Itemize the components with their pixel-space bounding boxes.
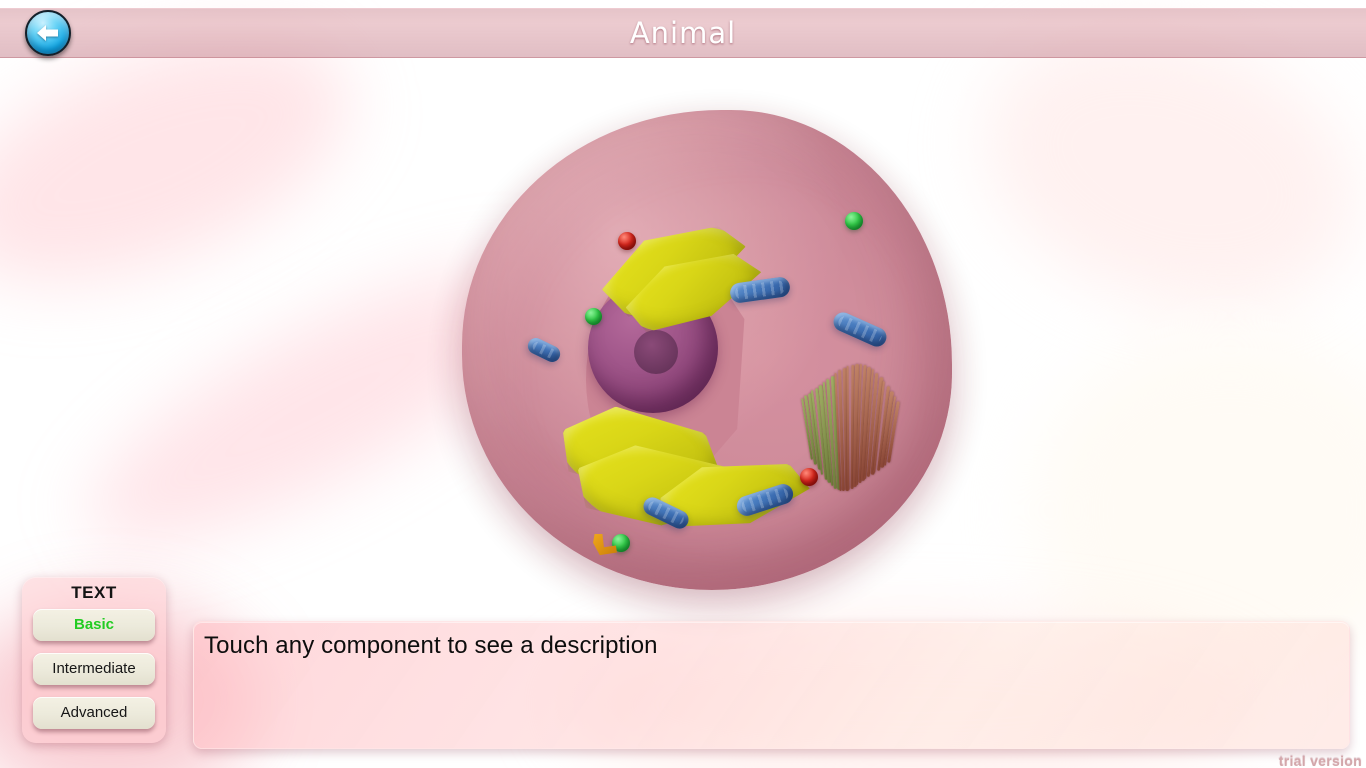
text-panel-title: TEXT bbox=[22, 583, 166, 603]
arrow-left-icon bbox=[35, 22, 61, 44]
cell-3d-viewport[interactable] bbox=[0, 58, 1366, 648]
text-level-panel: TEXT Basic Intermediate Advanced bbox=[22, 577, 166, 743]
lysosome[interactable] bbox=[845, 212, 863, 230]
peroxisome[interactable] bbox=[618, 232, 636, 250]
peroxisome[interactable] bbox=[800, 468, 818, 486]
title-bar: Animal bbox=[0, 8, 1366, 58]
page-title: Animal bbox=[630, 16, 736, 50]
description-text: Touch any component to see a description bbox=[204, 632, 1349, 660]
lysosome[interactable] bbox=[585, 308, 602, 325]
app-root: Animal TEXT Basic Intermediate Advanced … bbox=[0, 0, 1366, 768]
description-panel[interactable]: Touch any component to see a description bbox=[193, 621, 1350, 749]
text-level-intermediate[interactable]: Intermediate bbox=[33, 653, 155, 685]
text-level-advanced[interactable]: Advanced bbox=[33, 697, 155, 729]
er-cisterna bbox=[847, 366, 850, 490]
rough-endoplasmic-reticulum[interactable] bbox=[806, 364, 902, 494]
nucleolus[interactable] bbox=[634, 330, 678, 374]
text-level-basic[interactable]: Basic bbox=[33, 609, 155, 641]
trial-watermark: trial version bbox=[1279, 753, 1362, 768]
back-button[interactable] bbox=[25, 10, 71, 56]
